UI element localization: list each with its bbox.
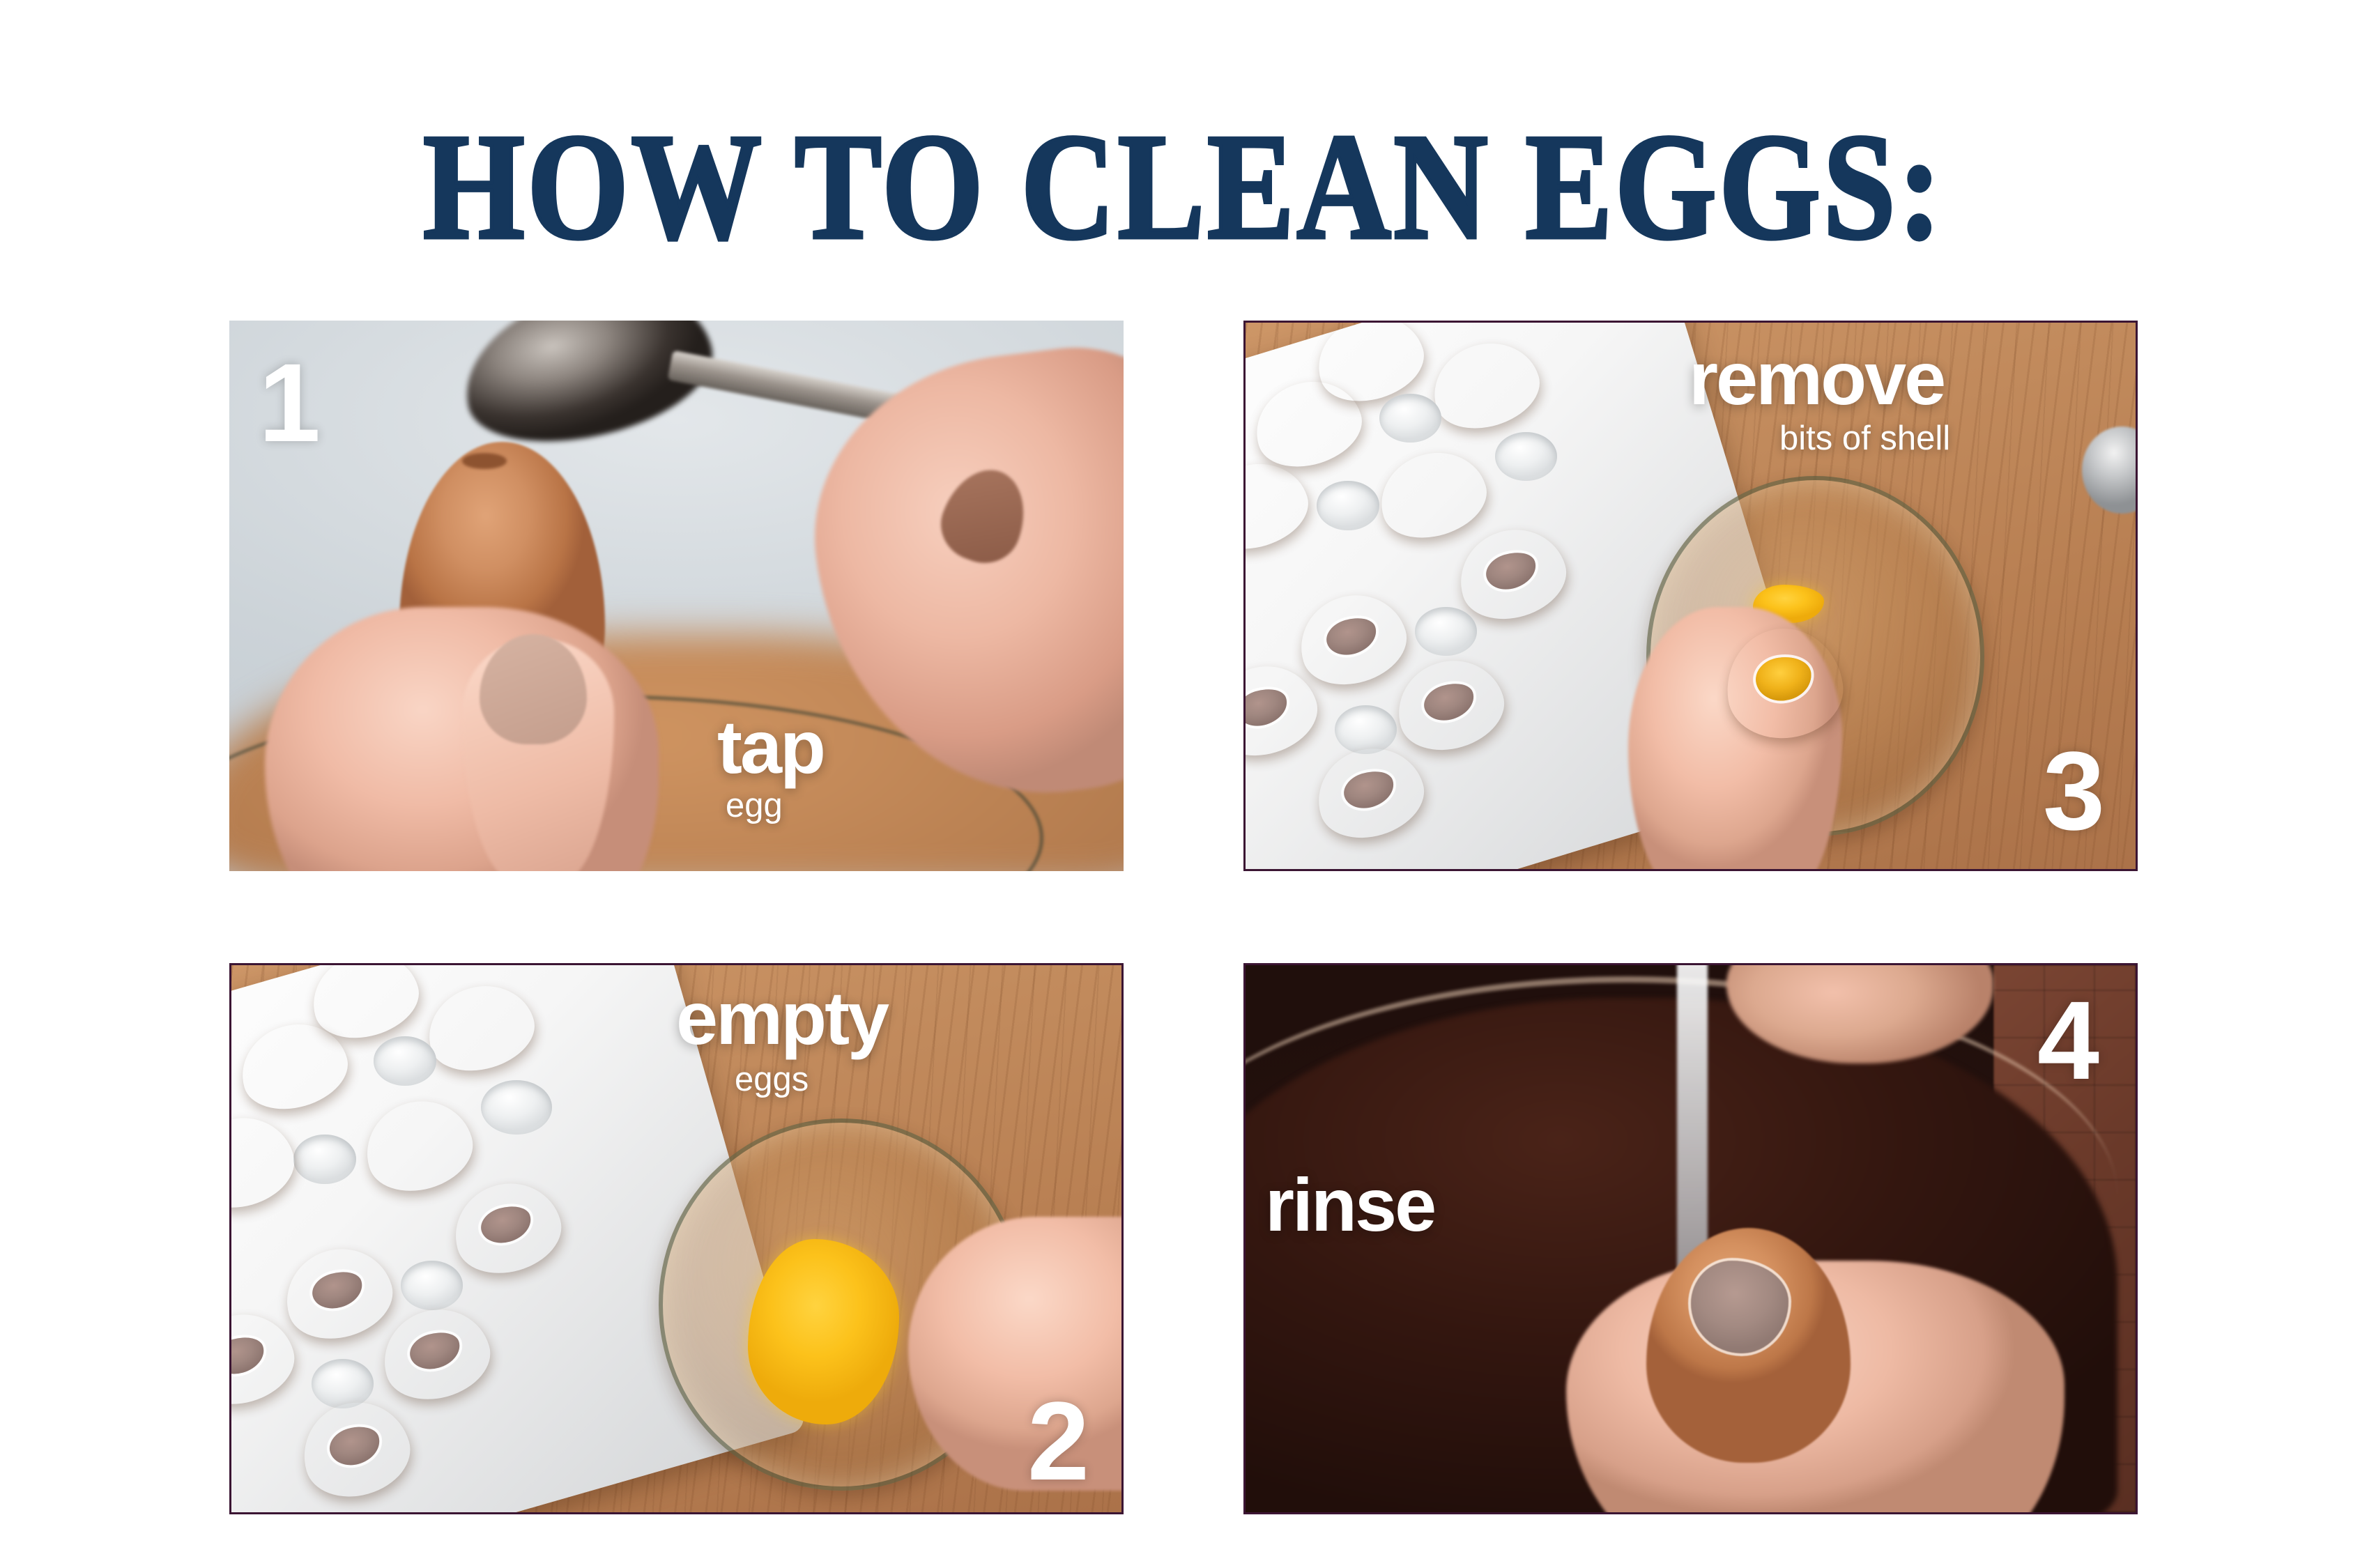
step-kicker-sub-empty: eggs bbox=[735, 1063, 809, 1097]
step-number-2: 2 bbox=[1027, 1385, 1087, 1497]
step-panel-empty[interactable]: empty eggs 2 bbox=[229, 963, 1124, 1514]
tray-cup bbox=[374, 1036, 436, 1086]
step-number-3: 3 bbox=[2043, 735, 2102, 847]
shell-opening bbox=[1340, 765, 1399, 813]
tray-cup bbox=[1415, 607, 1477, 656]
step-panel-remove[interactable]: remove bits of shell 3 bbox=[1243, 321, 2138, 871]
shell-opening bbox=[308, 1266, 367, 1314]
steps-grid: 1 tap egg bbox=[0, 0, 2367, 1568]
spoon-bowl-icon bbox=[449, 321, 725, 463]
tray-cup bbox=[1317, 481, 1379, 530]
shell-opening bbox=[325, 1421, 385, 1471]
egg-dent bbox=[462, 453, 507, 470]
step-kicker-tap: tap bbox=[717, 711, 824, 783]
tray-cup bbox=[1495, 432, 1557, 482]
tray-cup bbox=[1379, 394, 1441, 443]
step-panel-tap[interactable]: 1 tap egg bbox=[229, 321, 1124, 871]
step-kicker-empty: empty bbox=[676, 982, 887, 1054]
step-kicker-sub-remove: bits of shell bbox=[1779, 422, 1950, 456]
tray-cup bbox=[481, 1080, 552, 1135]
step-kicker-sub-tap: egg bbox=[726, 789, 783, 823]
shell-opening-with-yolk bbox=[1753, 654, 1814, 705]
shell-opening bbox=[406, 1326, 465, 1374]
tray-cup bbox=[293, 1135, 355, 1184]
tray-cup bbox=[1335, 705, 1397, 755]
shell-opening bbox=[1482, 546, 1541, 594]
shell-opening bbox=[1420, 677, 1479, 725]
shell-opening bbox=[229, 1332, 269, 1380]
photo-tap-egg bbox=[229, 321, 1124, 871]
shell-opening bbox=[477, 1201, 536, 1249]
tray-cup bbox=[401, 1261, 463, 1310]
shell-opening bbox=[1243, 683, 1292, 731]
step-kicker-rinse: rinse bbox=[1265, 1169, 1434, 1241]
step-kicker-remove: remove bbox=[1689, 342, 1944, 415]
step-panel-rinse[interactable]: rinse 4 bbox=[1243, 963, 2138, 1514]
shell-opening bbox=[1322, 612, 1381, 660]
step-number-1: 1 bbox=[259, 347, 318, 459]
tray-cup bbox=[312, 1359, 374, 1408]
step-number-4: 4 bbox=[2037, 985, 2097, 1096]
